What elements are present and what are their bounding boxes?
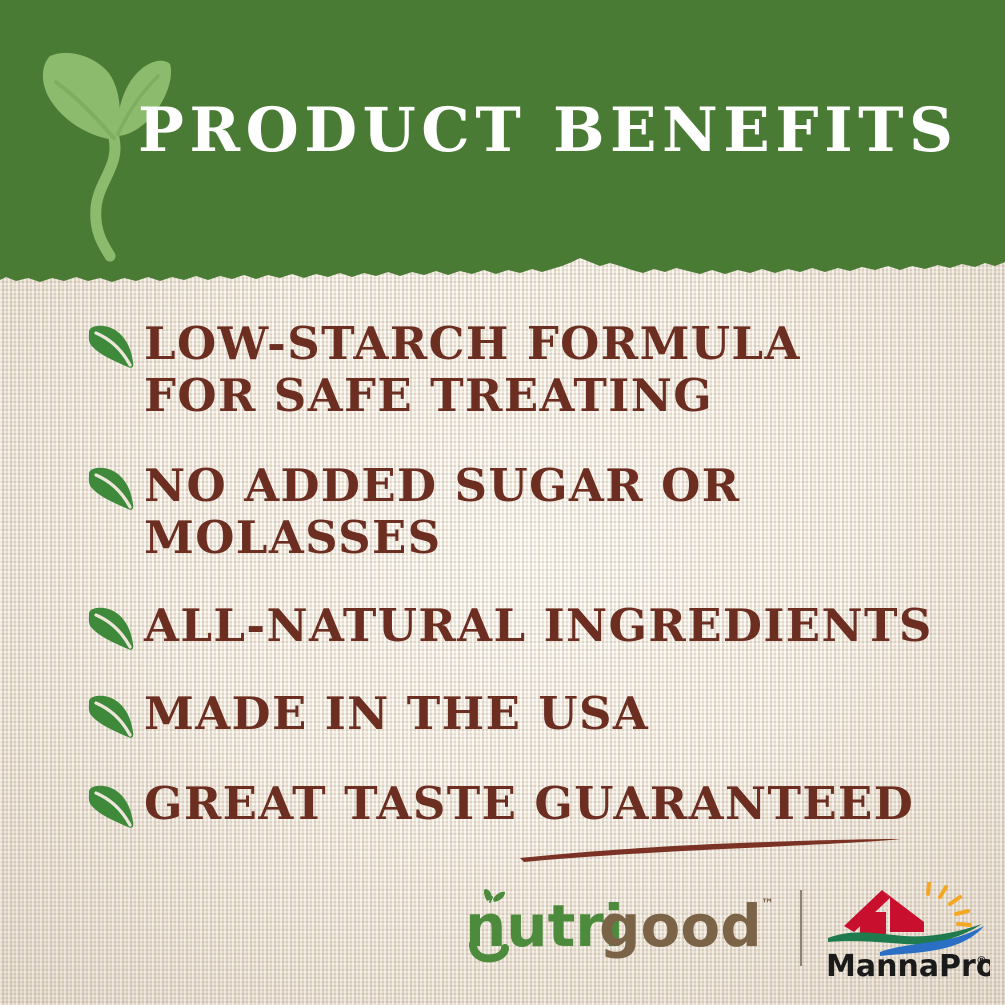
list-item: Low-Starch Formula For Safe Treating: [84, 318, 801, 422]
page-title: PRODUCT BENEFITS: [138, 92, 938, 170]
mannapro-logo: MannaPro ®: [824, 882, 990, 982]
nutrigood-logo: nutri good ™: [463, 888, 783, 964]
leaf-icon: [84, 324, 136, 370]
list-item-label: Made in the USA: [144, 688, 649, 740]
list-item: All-Natural Ingredients: [84, 600, 933, 652]
product-benefits-poster: PRODUCT BENEFITS Low-Starch Formula For …: [0, 0, 1005, 1005]
trademark-symbol: ™: [761, 897, 774, 912]
list-item-label: No Added Sugar or Molasses: [144, 460, 741, 564]
list-item: Made in the USA: [84, 688, 649, 740]
list-item: No Added Sugar or Molasses: [84, 460, 741, 564]
leaf-icon: [84, 466, 136, 512]
list-item-label: Low-Starch Formula For Safe Treating: [144, 318, 801, 422]
header-band: PRODUCT BENEFITS: [0, 0, 1005, 282]
leaf-icon: [84, 606, 136, 652]
list-item: Great Taste Guaranteed: [84, 778, 914, 830]
leaf-icon: [84, 694, 136, 740]
list-item-label: All-Natural Ingredients: [144, 600, 933, 652]
registered-symbol: ®: [976, 954, 987, 967]
leaf-icon: [84, 784, 136, 830]
mannapro-text: MannaPro: [826, 949, 990, 982]
sun-rays-icon: [928, 883, 970, 925]
logo-divider: [800, 890, 802, 966]
nutrigood-text-good: good: [599, 892, 762, 960]
brush-underline: [518, 836, 903, 864]
footer-logos: nutri good ™: [0, 880, 1005, 990]
list-item-label: Great Taste Guaranteed: [144, 778, 914, 830]
barn-icon: [844, 890, 924, 934]
